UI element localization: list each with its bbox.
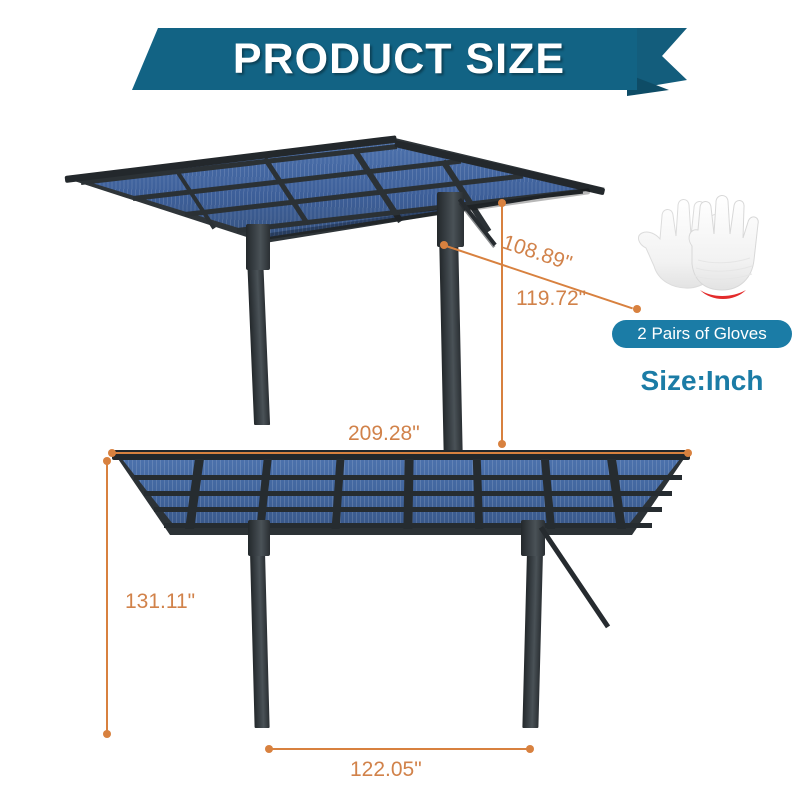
page-title: PRODUCT SIZE (164, 28, 634, 90)
roof-mullion (403, 459, 413, 529)
carport-front-view: 209.28" 131.11" 122.05" (100, 440, 700, 740)
dimension-line-height-front (106, 460, 108, 733)
dimension-endpoint-depth-start (440, 241, 448, 249)
dimension-endpoint-height-front-end (103, 730, 111, 738)
dimension-endpoint-height-top-start (498, 199, 506, 207)
glove-front (689, 195, 758, 290)
gloves-badge: 2 Pairs of Gloves (612, 320, 792, 348)
dimension-label-height-front: 131.11" (125, 590, 195, 614)
glove-cuff-trim (700, 290, 746, 299)
roof-assembly-perspective (65, 138, 605, 243)
dimension-endpoint-width-end (684, 449, 692, 457)
front-support-post-left (249, 528, 269, 728)
dimension-line-height-top (501, 202, 503, 444)
product-size-infographic: PRODUCT SIZE (0, 0, 800, 800)
dimension-line-post-spacing (268, 748, 530, 750)
front-support-post-right (522, 528, 543, 728)
dimension-endpoint-post-spacing-start (265, 745, 273, 753)
front-post-bracket-right (521, 520, 545, 556)
gloves-image (628, 186, 788, 316)
dimension-endpoint-height-front-start (103, 457, 111, 465)
gloves-illustration (628, 186, 788, 316)
dimension-endpoint-width-start (108, 449, 116, 457)
dimension-label-post-spacing: 122.05" (350, 758, 422, 782)
roof-assembly-front (112, 450, 690, 535)
front-diagonal-brace (539, 526, 610, 628)
dimension-label-height-top: 119.72" (516, 287, 586, 311)
banner: PRODUCT SIZE (132, 28, 672, 100)
front-post-bracket-left (248, 520, 270, 556)
dimension-line-width (111, 452, 689, 454)
units-note: Size:Inch (612, 365, 792, 397)
post-bracket-left (246, 224, 270, 270)
dimension-endpoint-post-spacing-end (526, 745, 534, 753)
carport-perspective-view: 108.89" 119.72" (55, 120, 615, 435)
dimension-label-width: 209.28" (348, 422, 420, 446)
